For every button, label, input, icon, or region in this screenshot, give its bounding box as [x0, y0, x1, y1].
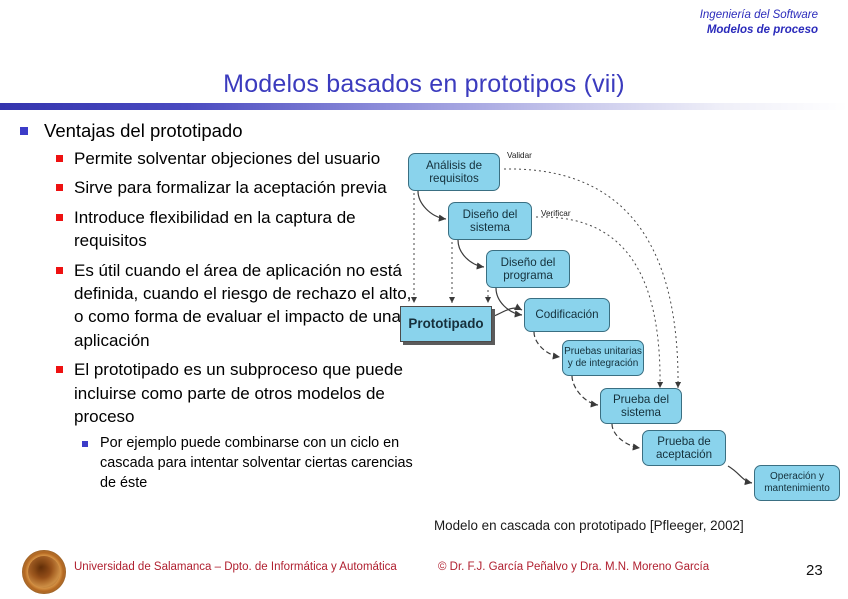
page-number: 23: [806, 562, 823, 579]
footer-institution: Universidad de Salamanca – Dpto. de Info…: [74, 561, 397, 573]
diagram-node-label: Prototipado: [408, 317, 483, 331]
sub-list-item-label: Por ejemplo puede combinarse con un cicl…: [100, 435, 413, 490]
diagram-node-codificacion: Codificación: [524, 298, 610, 332]
page-title: Modelos basados en prototipos (vii): [0, 70, 848, 99]
diagram-node-pruebas-unitarias: Pruebas unitarias y de integración: [562, 340, 644, 376]
list-item-label: Sirve para formalizar la aceptación prev…: [74, 178, 387, 197]
diagram-node-label: Pruebas unitarias y de integración: [563, 346, 643, 369]
list-item: Introduce flexibilidad en la captura de …: [12, 206, 422, 253]
diagram-node-operacion: Operación y mantenimiento: [754, 465, 840, 501]
diagram-node-label: Diseño del sistema: [449, 208, 531, 235]
list-item-label: El prototipado es un subproceso que pued…: [74, 360, 403, 426]
bullet-square-icon: [20, 127, 28, 135]
diagram-node-prototipado: Prototipado: [400, 306, 492, 342]
bullet-square-icon: [56, 267, 63, 274]
bullet-square-icon: [56, 214, 63, 221]
list-item: Sirve para formalizar la aceptación prev…: [12, 176, 422, 199]
sub-list-item: Por ejemplo puede combinarse con un cicl…: [12, 434, 422, 493]
diagram-node-label: Prueba de aceptación: [643, 435, 725, 462]
content-bullets: Ventajas del prototipado Permite solvent…: [12, 118, 422, 493]
bullet-level1-label: Ventajas del prototipado: [44, 120, 243, 141]
list-item: Permite solventar objeciones del usuario: [12, 147, 422, 170]
diagram-node-analisis: Análisis de requisitos: [408, 153, 500, 191]
footer-authors: © Dr. F.J. García Peñalvo y Dra. M.N. Mo…: [438, 561, 709, 573]
title-divider: [0, 103, 848, 110]
bullet-level1-heading: Ventajas del prototipado: [12, 118, 422, 144]
university-seal-logo: [22, 550, 66, 594]
diagram-node-diseno-programa: Diseño del programa: [486, 250, 570, 288]
edge-label-verificar: Verificar: [541, 209, 571, 218]
list-item-label: Es útil cuando el área de aplicación no …: [74, 261, 411, 350]
bullet-square-icon: [56, 155, 63, 162]
bullet-square-icon: [82, 441, 88, 447]
diagram-caption: Modelo en cascada con prototipado [Pflee…: [434, 518, 744, 533]
bullet-square-icon: [56, 184, 63, 191]
list-item: El prototipado es un subproceso que pued…: [12, 358, 422, 428]
waterfall-prototyping-diagram: Análisis de requisitos Diseño del sistem…: [400, 145, 848, 520]
diagram-node-prueba-sistema: Prueba del sistema: [600, 388, 682, 424]
list-item: Es útil cuando el área de aplicación no …: [12, 259, 422, 353]
slide-header: Ingeniería del Software Modelos de proce…: [0, 8, 818, 38]
diagram-node-label: Prueba del sistema: [601, 393, 681, 420]
header-topic-name: Modelos de proceso: [0, 23, 818, 38]
diagram-node-label: Diseño del programa: [487, 256, 569, 283]
bullet-square-icon: [56, 366, 63, 373]
diagram-node-label: Operación y mantenimiento: [755, 471, 839, 494]
diagram-node-diseno-sistema: Diseño del sistema: [448, 202, 532, 240]
list-item-label: Introduce flexibilidad en la captura de …: [74, 208, 356, 250]
header-course-name: Ingeniería del Software: [0, 8, 818, 23]
diagram-node-label: Codificación: [535, 308, 598, 322]
edge-label-validar: Validar: [507, 151, 532, 160]
diagram-node-prueba-aceptacion: Prueba de aceptación: [642, 430, 726, 466]
diagram-node-label: Análisis de requisitos: [409, 159, 499, 186]
list-item-label: Permite solventar objeciones del usuario: [74, 149, 380, 168]
